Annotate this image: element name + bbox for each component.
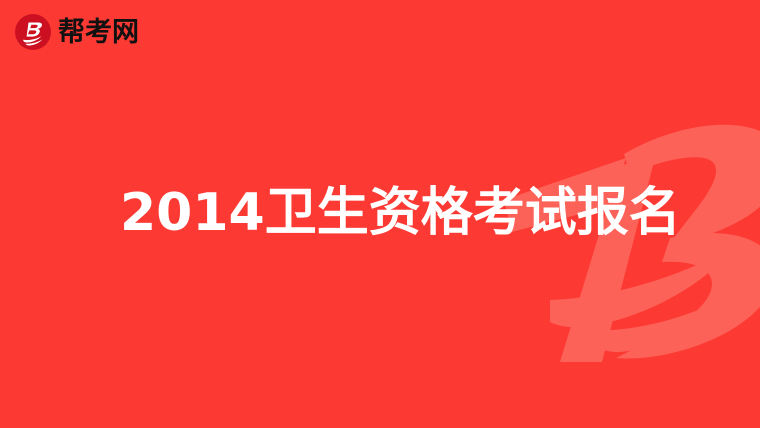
banner-headline: 2014卫生资格考试报名: [120, 186, 681, 241]
promo-banner: 帮考网 2014卫生资格考试报名: [0, 0, 760, 428]
letter-b-badge-icon: [14, 13, 52, 51]
site-logo-text: 帮考网: [58, 19, 139, 46]
site-logo[interactable]: 帮考网: [14, 12, 139, 52]
